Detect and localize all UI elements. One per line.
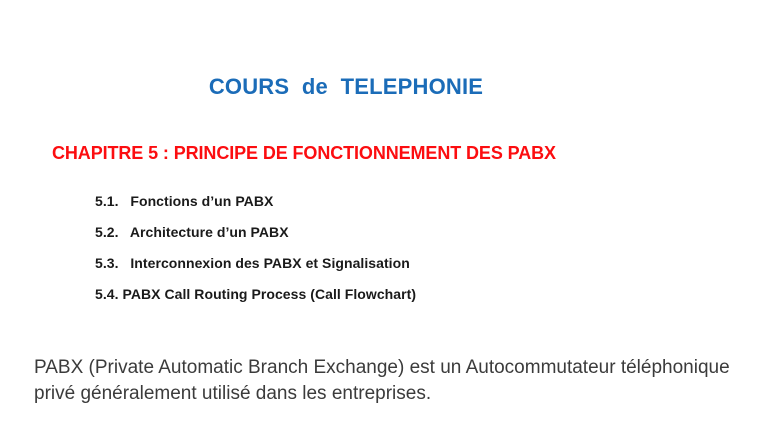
slide-canvas: COURS de TELEPHONIE CHAPITRE 5 : PRINCIP… xyxy=(0,0,768,432)
body-paragraph: PABX (Private Automatic Branch Exchange)… xyxy=(34,355,748,407)
list-item: 5.1. Fonctions d’un PABX xyxy=(95,193,595,224)
outline-list: 5.1. Fonctions d’un PABX 5.2. Architectu… xyxy=(95,193,595,317)
list-item: 5.2. Architecture d’un PABX xyxy=(95,224,595,255)
list-item: 5.4. PABX Call Routing Process (Call Flo… xyxy=(95,286,595,317)
page-title: COURS de TELEPHONIE xyxy=(0,74,692,100)
list-item: 5.3. Interconnexion des PABX et Signalis… xyxy=(95,255,595,286)
chapter-heading: CHAPITRE 5 : PRINCIPE DE FONCTIONNEMENT … xyxy=(52,143,556,164)
